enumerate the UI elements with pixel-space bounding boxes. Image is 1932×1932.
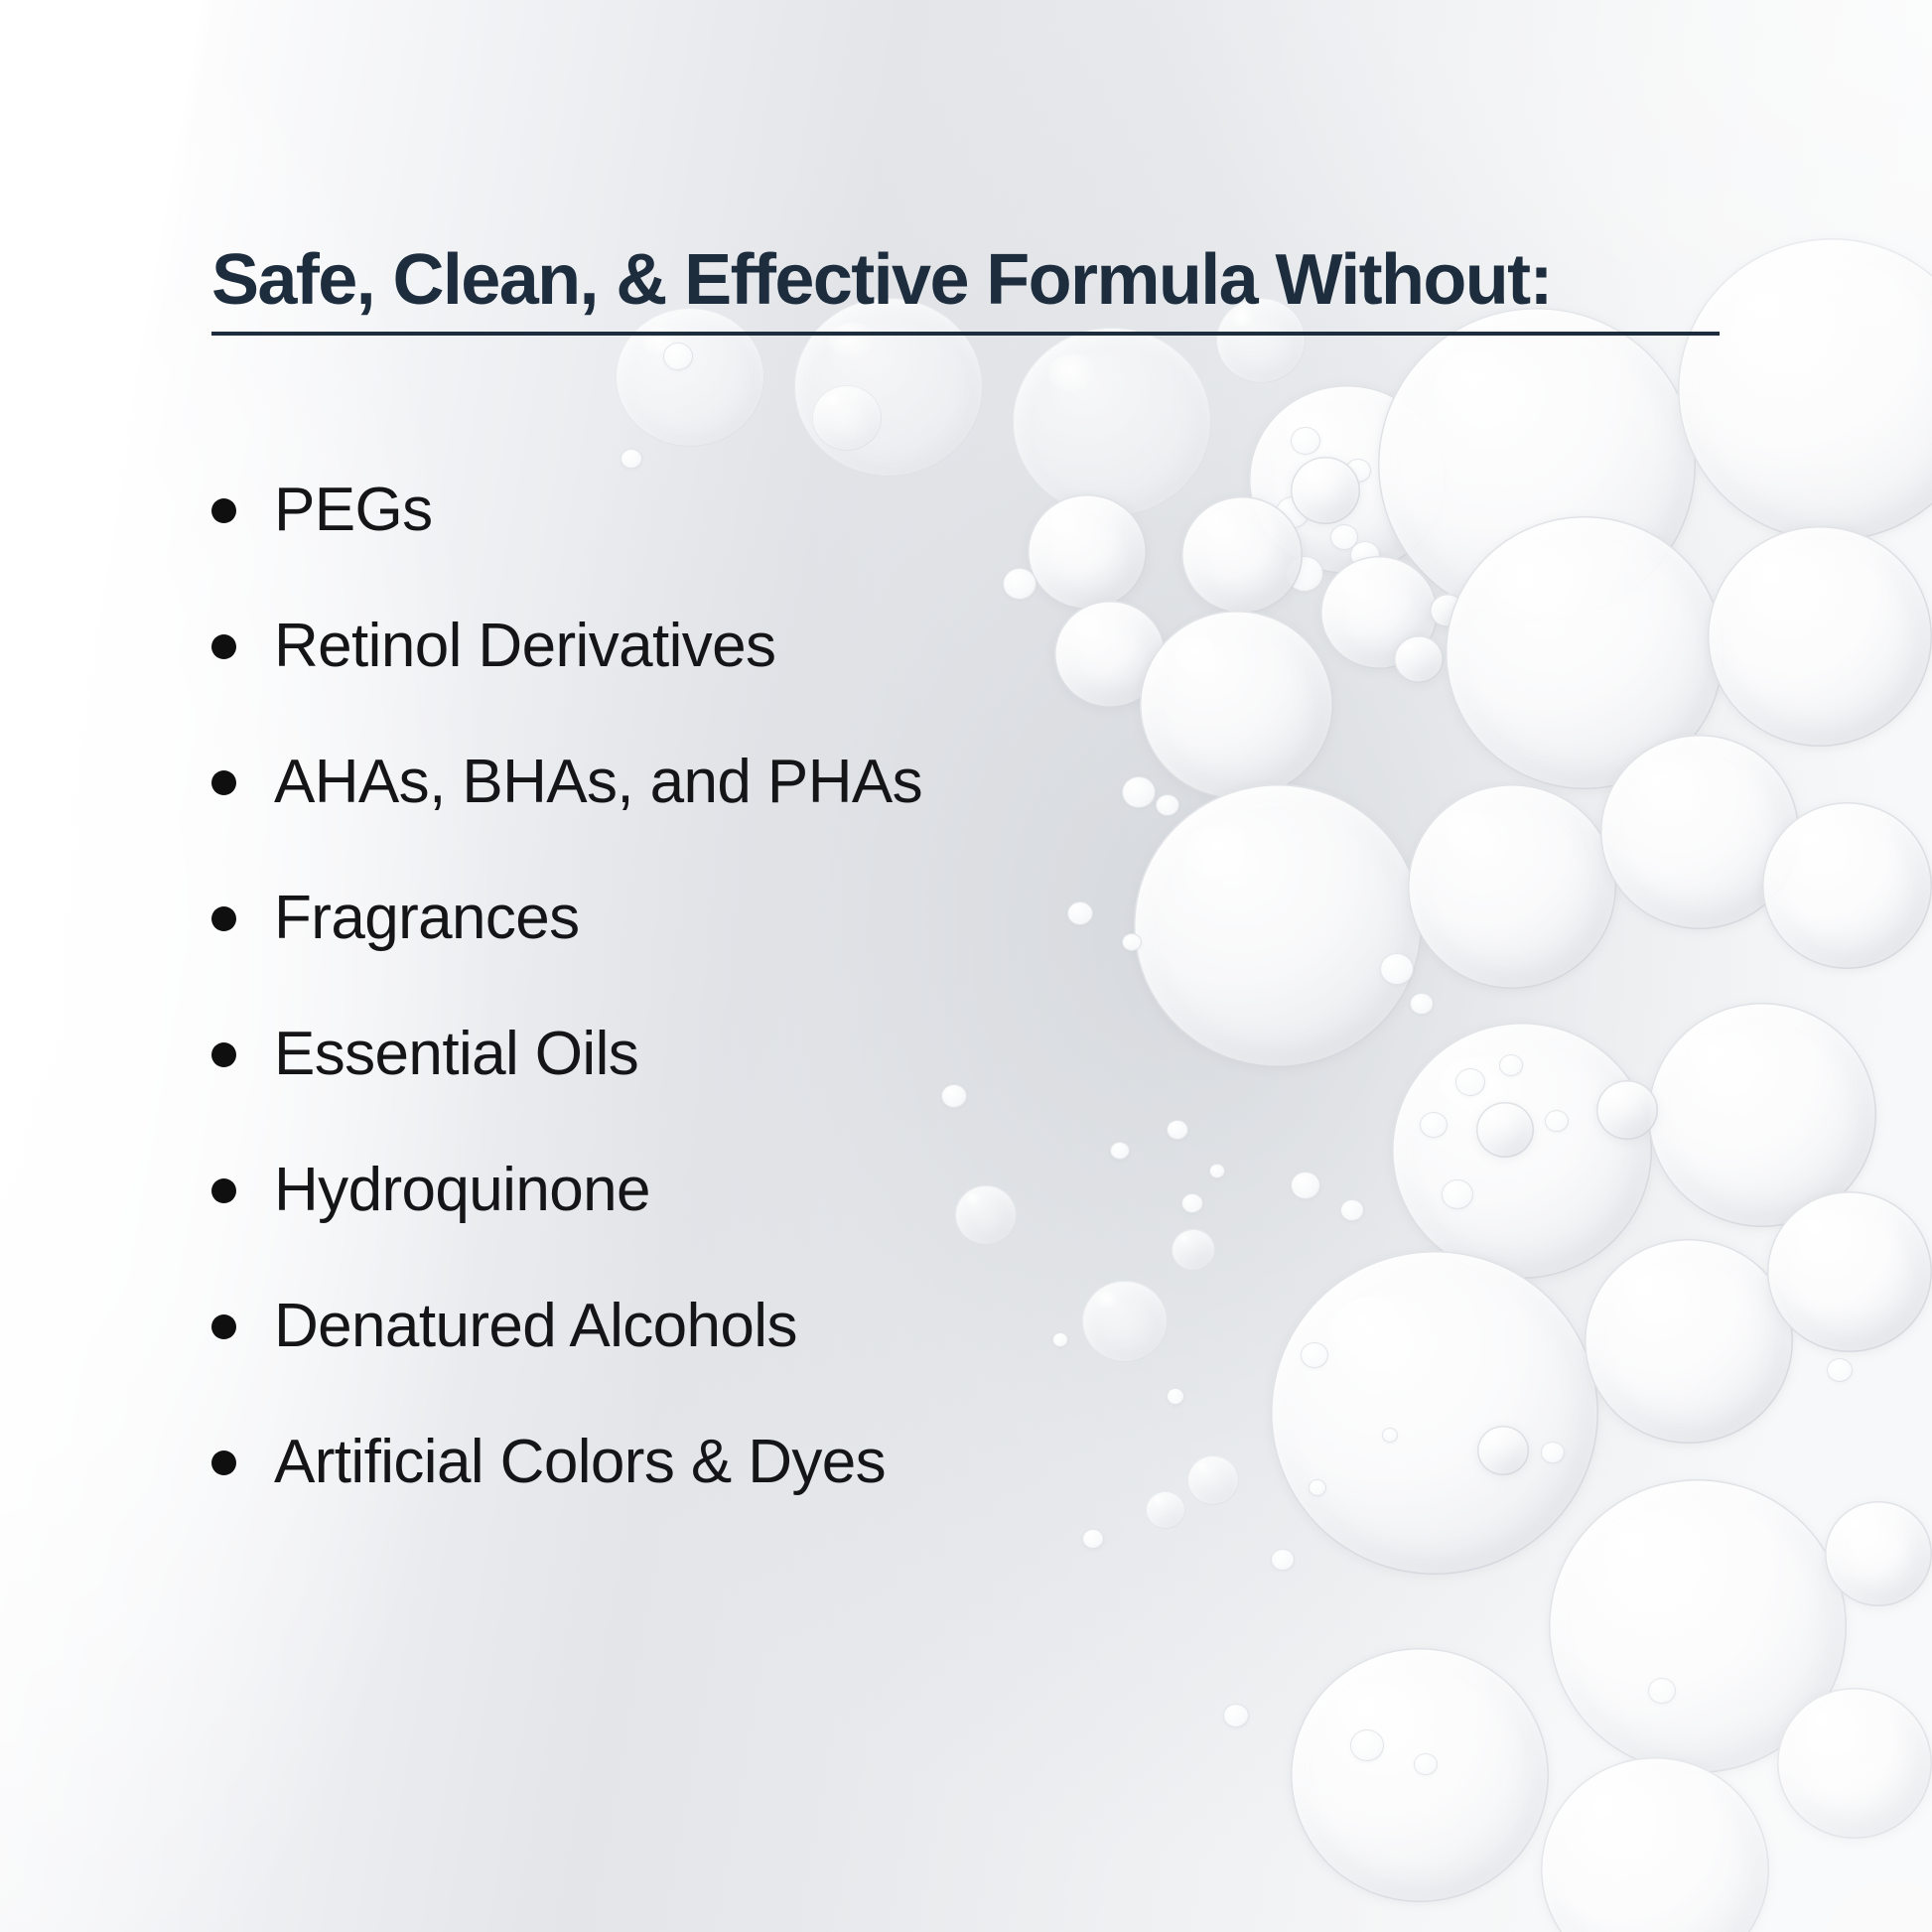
list-item-label: Artificial Colors & Dyes [274, 1432, 886, 1493]
list-item-label: Retinol Derivatives [274, 616, 775, 677]
list-item: Artificial Colors & Dyes [211, 1421, 1403, 1504]
list-item-label: Denatured Alcohols [274, 1296, 797, 1357]
bullet-dot-icon [211, 770, 236, 795]
list-item: Retinol Derivatives [211, 605, 1403, 688]
list-item: PEGs [211, 469, 1403, 552]
excluded-ingredients-list: PEGs Retinol Derivatives AHAs, BHAs, and… [211, 469, 1403, 1504]
bullet-dot-icon [211, 498, 236, 523]
list-item: Hydroquinone [211, 1149, 1403, 1232]
bullet-dot-icon [211, 1042, 236, 1067]
list-item: Fragrances [211, 877, 1403, 960]
page-title: Safe, Clean, & Effective Formula Without… [211, 244, 1720, 316]
claims-content: Safe, Clean, & Effective Formula Without… [0, 0, 1932, 1932]
bullet-dot-icon [211, 634, 236, 659]
product-claims-graphic: Safe, Clean, & Effective Formula Without… [0, 0, 1932, 1932]
list-item-label: AHAs, BHAs, and PHAs [274, 752, 922, 813]
heading-block: Safe, Clean, & Effective Formula Without… [211, 244, 1720, 336]
title-underline [211, 332, 1720, 336]
bullet-dot-icon [211, 1178, 236, 1203]
list-item: Denatured Alcohols [211, 1285, 1403, 1368]
list-item: AHAs, BHAs, and PHAs [211, 741, 1403, 824]
bullet-dot-icon [211, 1314, 236, 1339]
bullet-dot-icon [211, 1450, 236, 1475]
bullet-dot-icon [211, 906, 236, 931]
list-item-label: Essential Oils [274, 1024, 638, 1085]
list-item-label: PEGs [274, 480, 433, 541]
list-item-label: Fragrances [274, 888, 580, 949]
list-item: Essential Oils [211, 1013, 1403, 1096]
list-item-label: Hydroquinone [274, 1160, 650, 1221]
